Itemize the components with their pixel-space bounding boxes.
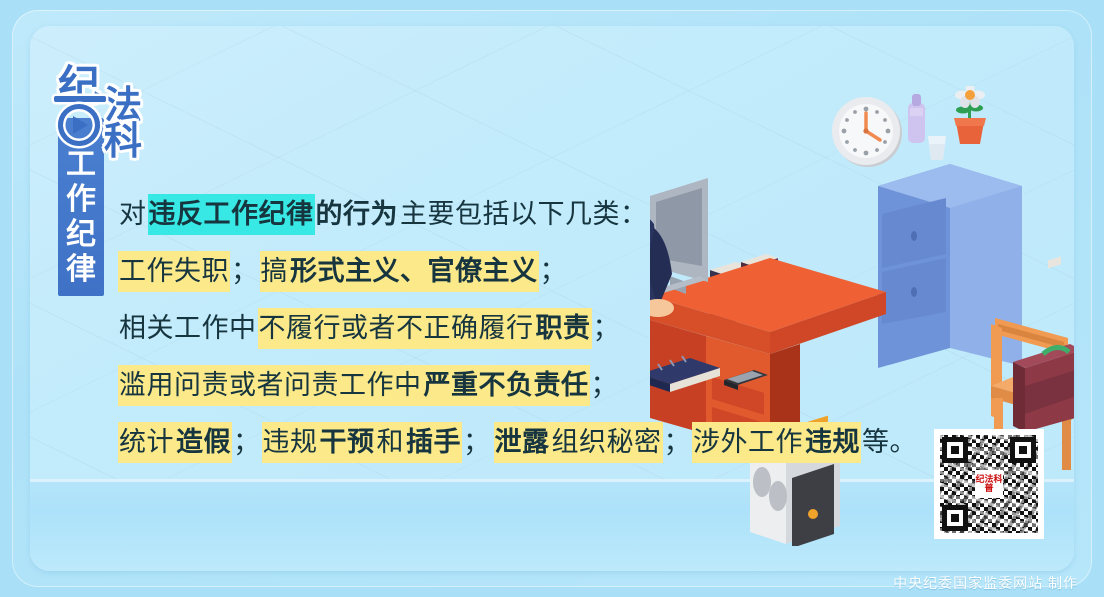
body-text-segment: 违反工作纪律: [148, 194, 315, 235]
logo-bar-shape: [54, 96, 106, 102]
body-text-segment: ；: [232, 422, 262, 463]
qr-code-pattern: 纪法科普: [940, 435, 1038, 533]
program-logo: 纪 法 科: [52, 52, 172, 170]
body-text-segment: ；: [539, 251, 569, 292]
qr-center-logo: 纪法科普: [975, 470, 1003, 498]
body-text-line: 相关工作中不履行或者不正确履行职责；: [118, 300, 918, 357]
body-text-segment: 搞: [260, 251, 290, 292]
body-text-segment: 对: [118, 194, 148, 235]
water-bottle-icon: [908, 94, 925, 143]
qr-finder-top-right: [1010, 437, 1036, 463]
qr-code[interactable]: 纪法科普: [934, 429, 1044, 539]
wall-clock-icon: [832, 97, 902, 167]
body-text-segment: 职责: [535, 308, 592, 349]
body-text-segment: 泄露: [494, 422, 551, 463]
body-text-segment: ；: [462, 422, 492, 463]
body-text-segment: ；: [230, 251, 260, 292]
body-text-segment: 的行为: [315, 194, 400, 235]
body-text-segment: 违规: [804, 422, 861, 463]
logo-char-ke: 科: [104, 110, 142, 165]
potted-flower-icon: [954, 86, 986, 144]
body-text-segment: 违规: [262, 422, 319, 463]
body-text-segment: 造假: [175, 422, 232, 463]
body-text-block: 对违反工作纪律的行为主要包括以下几类：工作失职；搞形式主义、官僚主义；相关工作中…: [118, 186, 918, 471]
body-text-segment: 主要包括以下几类：: [399, 194, 649, 235]
play-triangle-icon: [73, 116, 88, 134]
body-text-segment: 涉外工作: [692, 422, 804, 463]
body-text-segment: 相关工作中: [118, 308, 258, 349]
body-text-line: 滥用问责或者问责工作中严重不负责任；: [118, 357, 918, 414]
body-text-segment: 严重不负责任: [423, 365, 590, 406]
body-text-segment: 统计: [118, 422, 175, 463]
body-text-segment: 工作失职: [118, 251, 230, 292]
body-text-line: 工作失职；搞形式主义、官僚主义；: [118, 243, 918, 300]
body-text-line: 对违反工作纪律的行为主要包括以下几类：: [118, 186, 918, 243]
body-text-segment: ；: [590, 365, 620, 406]
qr-finder-top-left: [942, 437, 968, 463]
body-text-segment: 滥用问责或者问责工作中: [118, 365, 423, 406]
qr-finder-bottom-left: [942, 505, 968, 531]
body-text-segment: 不履行或者不正确履行: [258, 308, 535, 349]
poster-frame-inner: 纪 法 科 工 作 纪 律 对违反工作纪律的行为主要包括以下几类：工作失职；搞形…: [30, 26, 1074, 571]
drinking-glass-icon: [928, 136, 946, 160]
producer-credit: 中央纪委国家监委网站 制作: [893, 573, 1078, 593]
body-text-segment: 干预: [319, 422, 376, 463]
category-banner-char-2: 纪: [66, 218, 96, 252]
body-text-segment: 插手: [405, 422, 462, 463]
body-text-line: 统计造假；违规干预和插手； 泄露组织秘密；涉外工作违规等。: [118, 414, 918, 471]
body-text-segment: 组织秘密: [551, 422, 663, 463]
category-banner-char-1: 作: [66, 183, 96, 217]
body-text-segment: 和: [376, 422, 406, 463]
body-text-segment: ；: [663, 422, 693, 463]
body-text-segment: 等。: [861, 422, 918, 463]
poster-root: 纪 法 科 工 作 纪 律 对违反工作纪律的行为主要包括以下几类：工作失职；搞形…: [0, 0, 1104, 597]
body-text-segment: ；: [592, 308, 622, 349]
body-text-segment: 形式主义、官僚主义: [289, 251, 539, 292]
category-banner-char-3: 律: [66, 253, 96, 287]
